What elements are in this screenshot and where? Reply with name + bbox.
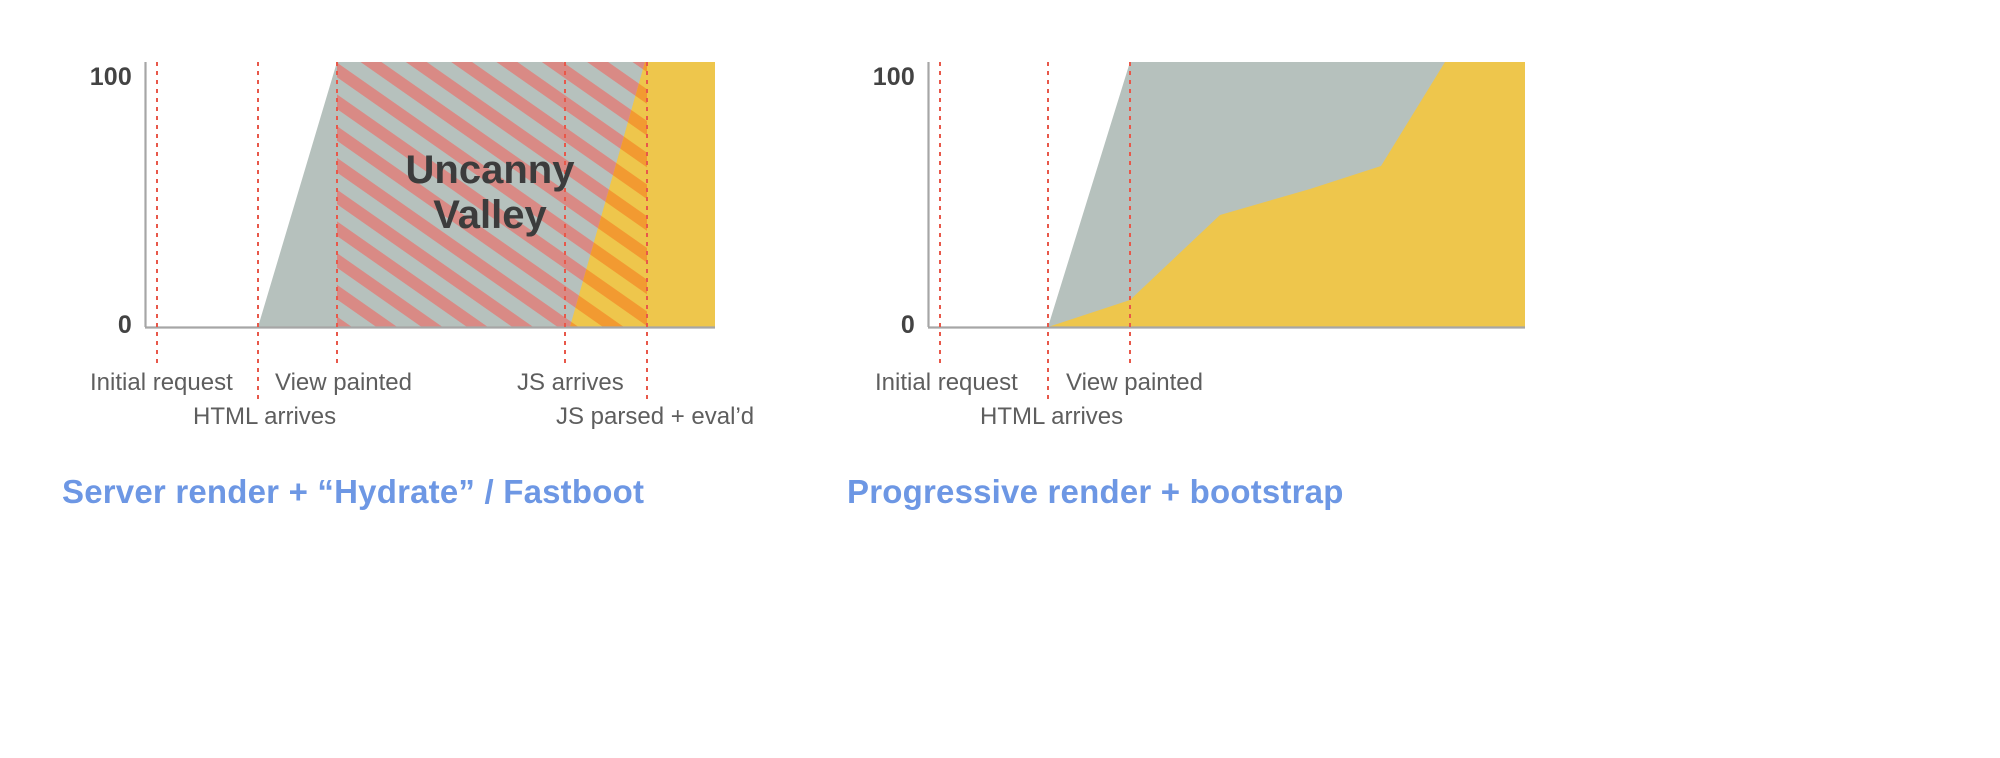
tick-label-html-arrives: HTML arrives	[193, 403, 336, 431]
tick-label-js-parsed-evald: JS parsed + eval’d	[556, 403, 754, 431]
panel-progressive-render: 100 0 Initial request View painted HTML …	[840, 0, 2000, 758]
slide-canvas: 100 0 Uncanny Valley Initial request Vie…	[0, 0, 2000, 758]
panel-server-render: 100 0 Uncanny Valley Initial request Vie…	[0, 0, 860, 758]
tick-label-initial-request: Initial request	[875, 369, 1018, 397]
tick-label-view-painted: View painted	[1066, 369, 1203, 397]
tick-label-initial-request: Initial request	[90, 369, 233, 397]
y-axis-label-0: 0	[70, 311, 132, 340]
tick-label-view-painted: View painted	[275, 369, 412, 397]
panel-caption-server-render: Server render + “Hydrate” / Fastboot	[62, 473, 644, 511]
tick-label-js-arrives: JS arrives	[517, 369, 624, 397]
y-axis-label-0: 0	[853, 311, 915, 340]
panel-caption-progressive-render: Progressive render + bootstrap	[847, 473, 1344, 511]
tick-label-html-arrives: HTML arrives	[980, 403, 1123, 431]
y-axis-label-100: 100	[70, 63, 132, 92]
y-axis-label-100: 100	[853, 63, 915, 92]
